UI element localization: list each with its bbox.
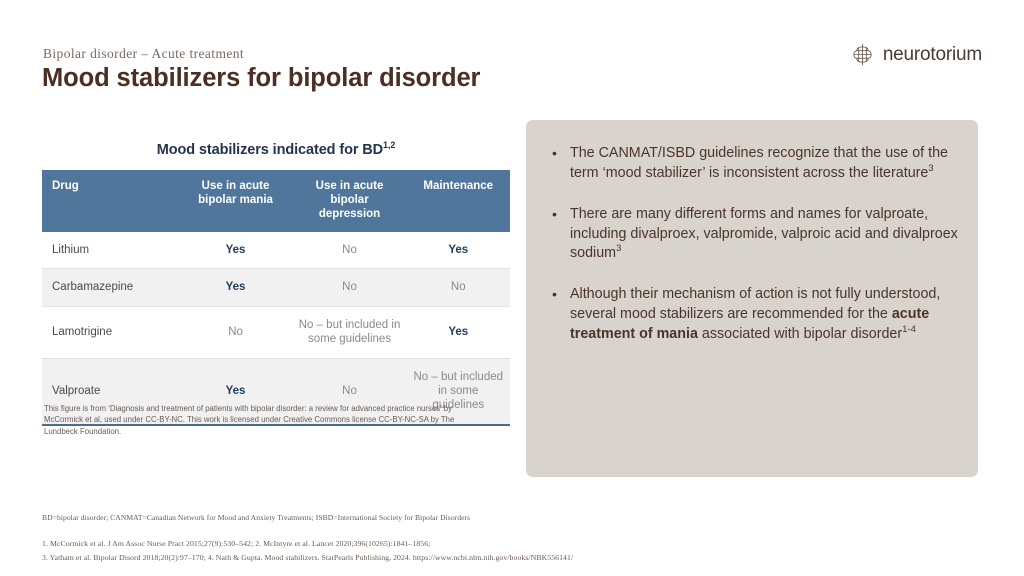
table-row: Lamotrigine No No – but included in some… — [42, 306, 510, 358]
value-acute-depression: No — [342, 385, 357, 397]
value-acute-depression: No – but included in some guidelines — [299, 318, 401, 347]
value-acute-mania: No — [228, 326, 243, 338]
column-header-acute-mania: Use in acute bipolar mania — [179, 170, 293, 232]
cell-acute-depression: No — [293, 232, 407, 269]
figure-credit: This figure is from ‘Diagnosis and treat… — [44, 403, 474, 437]
bullet-text-tail: associated with bipolar disorder — [698, 326, 902, 342]
reference-line-2: 3. Yatham et al. Bipolar Disord 2018;20(… — [42, 551, 992, 565]
bullet-text: Although their mechanism of action is no… — [570, 286, 940, 322]
value-maintenance: Yes — [448, 326, 468, 338]
brand-logo: neurotorium — [850, 42, 982, 67]
cell-drug-name: Lithium — [42, 232, 179, 269]
cell-acute-depression: No — [293, 269, 407, 306]
key-points-list: •The CANMAT/ISBD guidelines recognize th… — [548, 144, 960, 345]
brand-name: neurotorium — [883, 45, 982, 64]
reference-line-1: 1. McCormick et al. J Am Assoc Nurse Pra… — [42, 537, 992, 551]
value-maintenance: Yes — [448, 244, 468, 256]
table-body: Lithium Yes No Yes Carbamazepine Yes No … — [42, 232, 510, 425]
value-acute-mania: Yes — [226, 244, 246, 256]
abbreviations-footnote: BD=bipolar disorder; CANMAT=Canadian Net… — [42, 513, 470, 522]
cell-maintenance: Yes — [407, 232, 510, 269]
column-header-drug: Drug — [42, 170, 179, 232]
slide-kicker: Bipolar disorder – Acute treatment — [43, 46, 244, 62]
column-header-acute-depression: Use in acute bipolar depression — [293, 170, 407, 232]
column-header-maintenance: Maintenance — [407, 170, 510, 232]
cell-acute-mania: Yes — [179, 232, 293, 269]
bullet-superscript: 3 — [616, 244, 621, 255]
value-acute-mania: Yes — [226, 385, 246, 397]
bullet-dot-icon: • — [552, 144, 557, 163]
mood-stabilizer-table-block: Mood stabilizers indicated for BD1,2 Dru… — [42, 142, 510, 426]
drugs-table: Drug Use in acute bipolar mania Use in a… — [42, 170, 510, 426]
bullet-superscript: 3 — [928, 163, 933, 174]
table-title-text: Mood stabilizers indicated for BD — [157, 142, 383, 158]
list-item: •Although their mechanism of action is n… — [548, 285, 960, 345]
list-item: •The CANMAT/ISBD guidelines recognize th… — [548, 144, 960, 184]
cell-maintenance: Yes — [407, 306, 510, 358]
table-title-superscript: 1,2 — [383, 140, 395, 150]
page-title: Mood stabilizers for bipolar disorder — [42, 64, 480, 93]
bullet-text: The CANMAT/ISBD guidelines recognize tha… — [570, 145, 948, 181]
table-header: Drug Use in acute bipolar mania Use in a… — [42, 170, 510, 232]
table-row: Carbamazepine Yes No No — [42, 269, 510, 306]
list-item: •There are many different forms and name… — [548, 205, 960, 265]
table-title: Mood stabilizers indicated for BD1,2 — [42, 142, 510, 158]
neurotorium-brain-icon — [850, 42, 875, 67]
value-acute-depression: No — [342, 244, 357, 256]
bullet-text: There are many different forms and names… — [570, 206, 958, 262]
table-row: Lithium Yes No Yes — [42, 232, 510, 269]
bullet-dot-icon: • — [552, 205, 557, 224]
cell-drug-name: Lamotrigine — [42, 306, 179, 358]
bullet-superscript: 1-4 — [902, 324, 916, 335]
value-acute-depression: No — [342, 281, 357, 293]
cell-drug-name: Carbamazepine — [42, 269, 179, 306]
references-footnote: 1. McCormick et al. J Am Assoc Nurse Pra… — [42, 537, 992, 564]
cell-maintenance: No — [407, 269, 510, 306]
value-maintenance: No — [451, 281, 466, 293]
table-header-row: Drug Use in acute bipolar mania Use in a… — [42, 170, 510, 232]
value-acute-mania: Yes — [226, 281, 246, 293]
cell-acute-depression: No – but included in some guidelines — [293, 306, 407, 358]
cell-acute-mania: Yes — [179, 269, 293, 306]
bullet-dot-icon: • — [552, 285, 557, 304]
cell-acute-mania: No — [179, 306, 293, 358]
